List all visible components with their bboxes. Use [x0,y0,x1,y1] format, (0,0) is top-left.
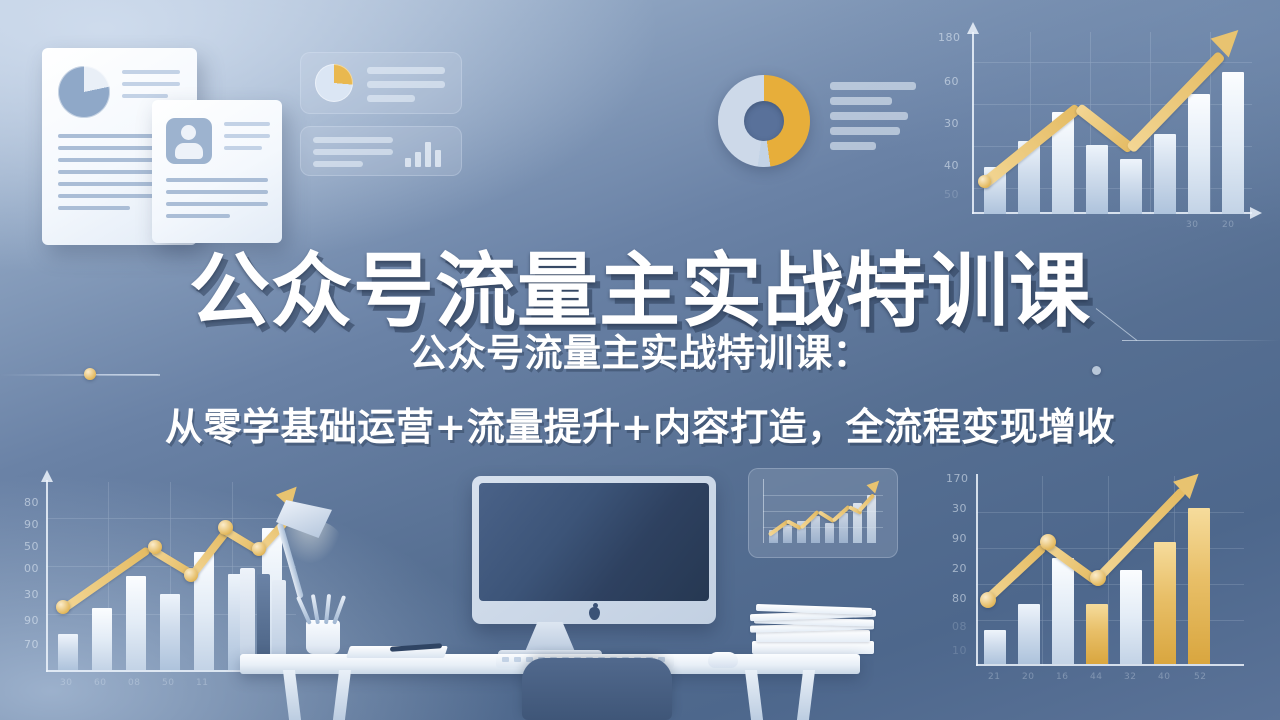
trend-segment [1126,51,1226,154]
document-text-line [58,206,130,210]
pencil [332,595,346,625]
top-right-growth-chart: 180 60 30 40 50 30 20 [930,28,1260,250]
y-tick-label: 30 [24,588,39,601]
y-tick-label: 90 [24,518,39,531]
x-tick-label: 52 [1194,672,1206,682]
course-poster: 180 60 30 40 50 30 20 公众号流量主实战特 [0,0,1280,720]
document-text-line [122,82,180,86]
document-text-line [122,94,168,98]
card-text-line [367,67,445,74]
paper-stack [748,596,878,654]
trend-marker [56,600,70,614]
mini-bar [435,150,441,167]
x-tick-label: 50 [162,678,174,688]
monitor[interactable] [472,476,716,624]
chart-y-axis [976,474,978,666]
keyboard-key [514,657,521,662]
legend-line [830,82,916,90]
x-tick-label: 40 [1158,672,1170,682]
card-text-line [313,149,393,155]
mini-bar [425,142,431,167]
stat-card-bars [300,126,462,176]
card-text-line [367,81,445,88]
mouse[interactable] [708,652,738,668]
document-text-line [224,122,270,126]
card-text-line [367,95,415,102]
x-tick-label: 60 [94,678,106,688]
binder [272,580,286,654]
trend-segment [979,103,1082,190]
x-tick-label: 20 [1222,220,1234,230]
trend-marker [1090,570,1106,586]
x-tick-label: 30 [1186,220,1198,230]
keyboard-key [502,657,509,662]
trend-segment [60,546,151,613]
card-pie-chart [315,64,353,102]
binder-stack [240,564,292,654]
subtitle-line-2: 从零学基础运营+流量提升+内容打造，全流程变现增收 [0,396,1280,451]
mini-trend-segment [858,493,876,512]
apple-logo-icon [589,607,600,620]
trend-start-node [978,175,991,188]
y-tick-label: 50 [24,540,39,553]
subtitle-line-1: 公众号流量主实战特训课： [0,322,1280,377]
book [752,641,874,654]
document-text-line [166,202,268,206]
legend-line [830,112,908,120]
office-chair [522,658,672,720]
card-text-line [313,161,363,167]
document-pie-chart [58,66,110,118]
desk-leg [333,670,351,720]
document-text-line [166,190,268,194]
document-text-line [224,134,270,138]
mini-bar [405,158,411,167]
x-tick-label: 20 [1022,672,1034,682]
legend-line [830,97,892,105]
desk-leg [283,670,301,720]
legend-line [830,127,900,135]
document-card-front [152,100,282,243]
pencil [311,594,320,624]
pencil-cup-contents [304,592,344,624]
x-tick-label: 08 [128,678,140,688]
y-tick-label: 10 [952,644,967,657]
document-text-line [224,146,262,150]
donut-chart [718,75,810,167]
x-tick-label: 21 [988,672,1000,682]
chart-x-axis [976,664,1244,666]
x-tick-label: 11 [196,678,208,688]
y-tick-label: 50 [944,188,959,201]
desk-leg [745,670,763,720]
y-tick-label: 20 [952,562,967,575]
card-mini-bar-chart [405,137,447,167]
mini-bar [415,152,421,167]
y-tick-label: 30 [944,117,959,130]
y-tick-label: 40 [944,159,959,172]
stat-card-pie [300,52,462,114]
trend-arrow-line [980,474,1244,664]
y-tick-label: 00 [24,562,39,575]
y-tick-label: 90 [24,614,39,627]
trend-arrow-line [978,32,1254,214]
trend-marker [218,520,233,535]
document-text-line [122,70,180,74]
x-tick-label: 16 [1056,672,1068,682]
x-tick-label: 44 [1090,672,1102,682]
y-tick-label: 30 [952,502,967,515]
card-text-line [313,137,393,143]
document-text-line [166,214,230,218]
trend-segment [1075,103,1135,154]
y-tick-label: 60 [944,75,959,88]
chart-y-axis [972,32,974,214]
y-tick-label: 90 [952,532,967,545]
x-tick-label: 32 [1124,672,1136,682]
trend-segment [1093,487,1187,584]
y-tick-label: 08 [952,620,967,633]
pencil [296,596,312,625]
y-tick-label: 80 [952,592,967,605]
pencil-cup [306,620,340,654]
y-tick-label: 180 [938,31,961,44]
person-icon [166,118,212,164]
desk-leg [797,670,815,720]
pencil [324,594,331,624]
y-tick-label: 170 [946,472,969,485]
trend-marker [1040,534,1056,550]
chart-y-axis [46,480,48,672]
binder [240,568,255,654]
monitor-screen[interactable] [479,483,709,601]
legend-line [830,142,876,150]
monitor-chin [472,602,716,624]
trend-marker [980,592,996,608]
x-tick-label: 30 [60,678,72,688]
y-tick-label: 70 [24,638,39,651]
trend-marker [148,540,162,554]
y-tick-label: 80 [24,496,39,509]
binder [257,574,270,654]
trend-marker [184,568,198,582]
bottom-right-growth-chart: 170 30 90 20 80 08 10 21 20 16 44 32 40 … [948,448,1268,720]
workspace-scene [240,458,860,720]
document-text-line [166,178,268,182]
